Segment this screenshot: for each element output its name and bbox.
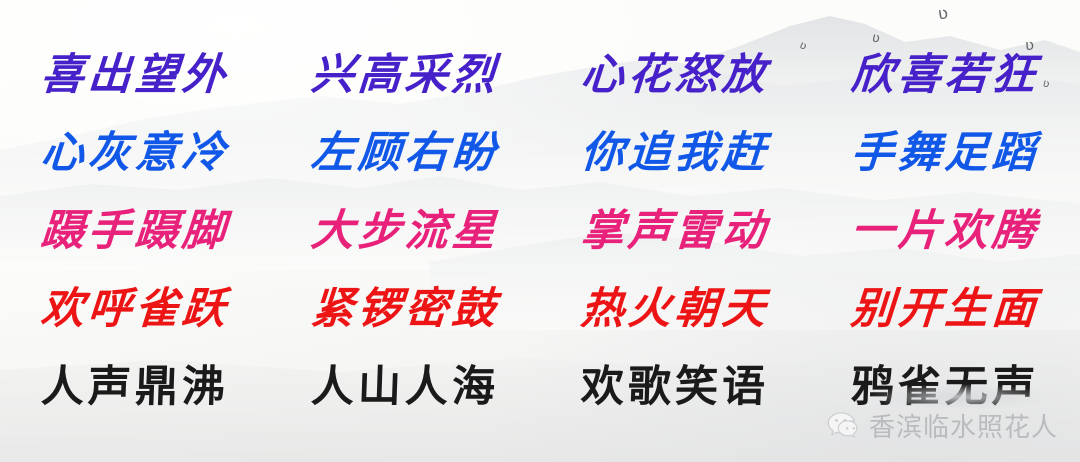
idiom-text: 你追我赶 [579, 132, 770, 175]
idiom-text: 蹑手蹑脚 [39, 210, 230, 253]
idiom-text: 鸦雀无声 [850, 366, 1040, 409]
bird-icon: ʋ [937, 5, 949, 23]
idiom-cell: 手舞足蹈 [810, 132, 1080, 175]
idiom-text: 心灰意冷 [39, 132, 230, 175]
idiom-cell: 蹑手蹑脚 [0, 210, 270, 253]
idiom-cell: 喜出望外 [0, 54, 270, 97]
idiom-text: 手舞足蹈 [849, 132, 1040, 175]
idiom-text: 欣喜若狂 [849, 54, 1040, 97]
idiom-cell: 热火朝天 [540, 288, 810, 331]
idiom-cell: 人山人海 [270, 366, 540, 409]
idiom-text: 一片欢腾 [849, 210, 1040, 253]
idiom-cell: 人声鼎沸 [0, 366, 270, 409]
watermark-text: 香滨临水照花人 [869, 407, 1058, 444]
idiom-text: 别开生面 [849, 288, 1040, 331]
idiom-text: 左顾右盼 [309, 132, 500, 175]
idiom-text: 大步流星 [309, 210, 500, 253]
idiom-row: 欢呼雀跃 紧锣密鼓 热火朝天 别开生面 [0, 270, 1080, 348]
idiom-cell: 大步流星 [270, 210, 540, 253]
idiom-poster: ʋ ʋ ʋ ʋ ʋ 喜出望外 兴高采烈 心花怒放 欣喜若狂 心灰意冷 左顾右盼 … [0, 0, 1080, 462]
idiom-text: 心花怒放 [579, 54, 770, 97]
idiom-cell: 心花怒放 [540, 54, 810, 97]
idiom-cell: 紧锣密鼓 [270, 288, 540, 331]
idiom-cell: 鸦雀无声 [810, 366, 1080, 409]
idiom-text: 欢呼雀跃 [39, 288, 230, 331]
idiom-text: 热火朝天 [579, 288, 770, 331]
idiom-cell: 心灰意冷 [0, 132, 270, 175]
idiom-text: 紧锣密鼓 [309, 288, 500, 331]
idiom-row: 喜出望外 兴高采烈 心花怒放 欣喜若狂 [0, 36, 1080, 114]
idiom-row: 心灰意冷 左顾右盼 你追我赶 手舞足蹈 [0, 114, 1080, 192]
idiom-cell: 兴高采烈 [270, 54, 540, 97]
idiom-text: 人山人海 [310, 366, 500, 409]
idiom-cell: 欢歌笑语 [540, 366, 810, 409]
idiom-cell: 欢呼雀跃 [0, 288, 270, 331]
idiom-cell: 欣喜若狂 [810, 54, 1080, 97]
idiom-cell: 掌声雷动 [540, 210, 810, 253]
idiom-text: 兴高采烈 [309, 54, 500, 97]
idiom-cell: 你追我赶 [540, 132, 810, 175]
idiom-cell: 一片欢腾 [810, 210, 1080, 253]
watermark: 香滨临水照花人 [827, 407, 1058, 444]
idiom-cell: 左顾右盼 [270, 132, 540, 175]
idiom-text: 人声鼎沸 [40, 366, 230, 409]
idiom-text: 喜出望外 [39, 54, 230, 97]
idiom-grid: 喜出望外 兴高采烈 心花怒放 欣喜若狂 心灰意冷 左顾右盼 你追我赶 手舞足蹈 … [0, 36, 1080, 426]
wechat-icon [827, 411, 861, 441]
idiom-row: 蹑手蹑脚 大步流星 掌声雷动 一片欢腾 [0, 192, 1080, 270]
idiom-text: 掌声雷动 [579, 210, 770, 253]
idiom-cell: 别开生面 [810, 288, 1080, 331]
idiom-text: 欢歌笑语 [580, 366, 770, 409]
